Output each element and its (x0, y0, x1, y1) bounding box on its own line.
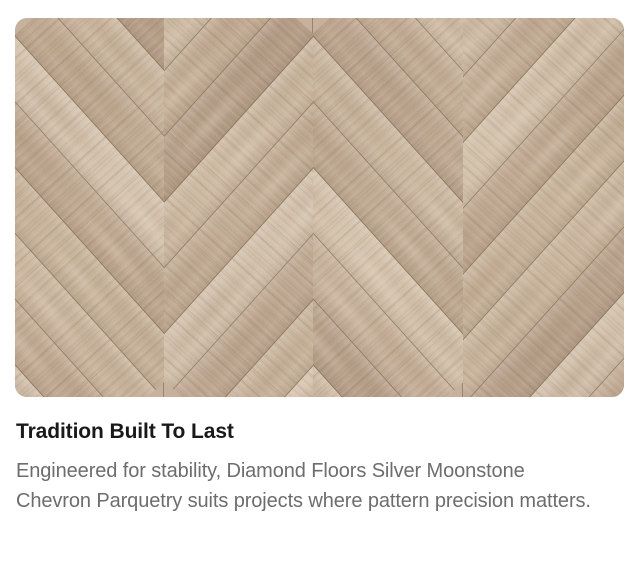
plank-group (313, 18, 463, 397)
hero-image (15, 18, 624, 397)
plank-group (15, 18, 164, 397)
chevron-column (463, 18, 624, 397)
chevron-parquetry-floor-texture (15, 18, 624, 397)
page-title: Tradition Built To Last (16, 419, 234, 445)
product-description: Engineered for stability, Diamond Floors… (16, 456, 592, 516)
plank-group (463, 18, 624, 397)
product-feature-card: Tradition Built To Last Engineered for s… (0, 0, 640, 585)
chevron-column (313, 18, 463, 397)
chevron-column (164, 18, 313, 397)
plank-group (164, 18, 313, 397)
chevron-column (15, 18, 164, 397)
